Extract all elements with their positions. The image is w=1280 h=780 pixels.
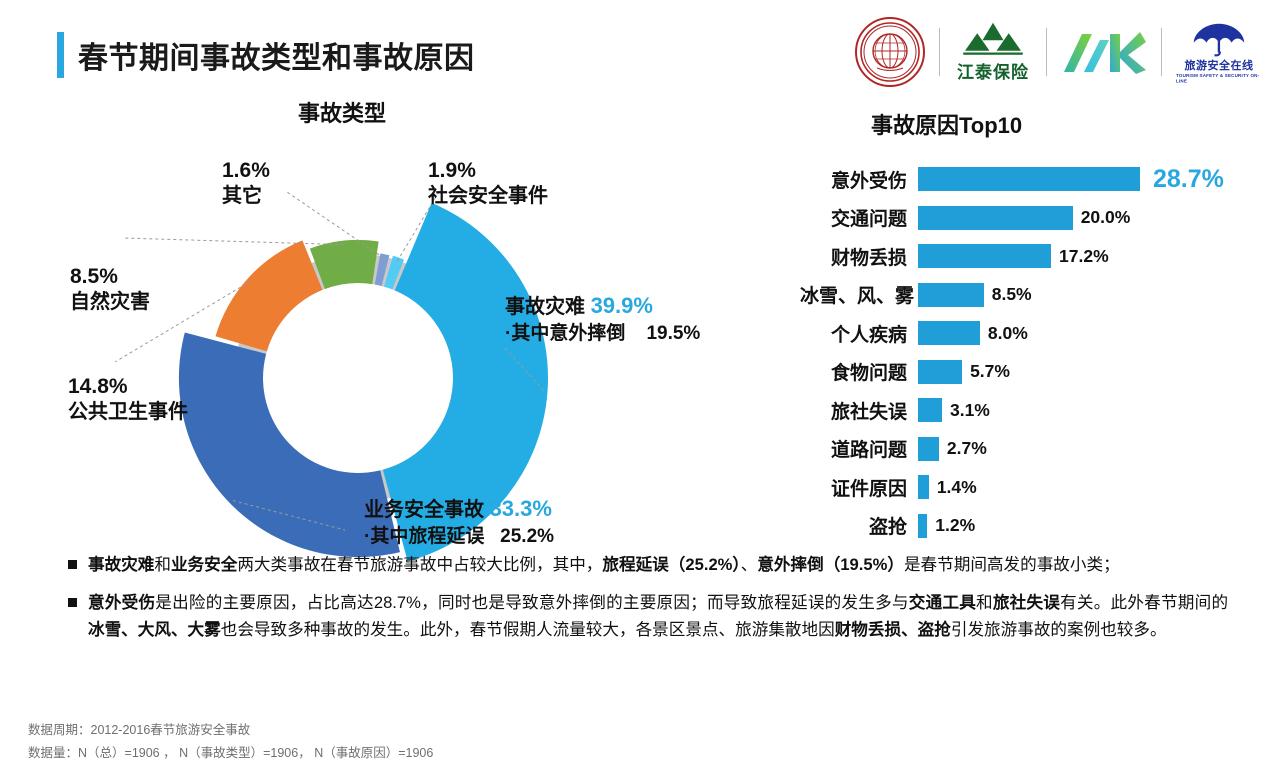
bar-value: 17.2% <box>1059 246 1109 267</box>
bar-row[interactable]: 道路问题2.7% <box>800 430 1268 469</box>
donut-label-business-sub: ·其中旅程延误 25.2% <box>364 525 554 548</box>
jiangtai-label: 江泰保险 <box>957 58 1029 83</box>
bar-fill <box>918 244 1051 268</box>
donut-label-other: 1.6% 其它 <box>222 158 270 208</box>
bar-row[interactable]: 食物问题5.7% <box>800 353 1268 392</box>
bar-row[interactable]: 冰雪、风、雾8.5% <box>800 276 1268 315</box>
huaqiao-university-logo <box>855 16 925 88</box>
bar-fill <box>918 475 929 499</box>
summary-bullets: 事故灾难和业务安全两大类事故在春节旅游事故中占较大比例，其中，旅程延误（25.2… <box>68 552 1228 655</box>
bar-label-证件原因: 证件原因 <box>800 474 918 501</box>
bar-row[interactable]: 旅社失误3.1% <box>800 391 1268 430</box>
bar-track: 17.2% <box>918 237 1268 276</box>
bar-row[interactable]: 证件原因1.4% <box>800 468 1268 507</box>
bar-track: 8.5% <box>918 276 1268 315</box>
donut-leader-line <box>123 238 344 245</box>
bar-track: 1.2% <box>918 507 1268 546</box>
bar-track: 8.0% <box>918 314 1268 353</box>
bar-track: 5.7% <box>918 353 1268 392</box>
bullet-item: 意外受伤是出险的主要原因，占比高达28.7%，同时也是导致意外摔倒的主要原因；而… <box>68 590 1228 644</box>
donut-slice-公共卫生事件[interactable] <box>216 240 323 351</box>
bar-label-意外受伤: 意外受伤 <box>800 166 918 193</box>
aik-logo <box>1061 16 1147 88</box>
bar-label-食物问题: 食物问题 <box>800 358 918 385</box>
bar-label-道路问题: 道路问题 <box>800 435 918 462</box>
umbrella-icon <box>1188 21 1250 57</box>
bullet-text: 意外受伤是出险的主要原因，占比高达28.7%，同时也是导致意外摔倒的主要原因；而… <box>88 590 1228 644</box>
donut-label-natural-disaster: 8.5% 自然灾害 <box>70 264 150 314</box>
bar-value: 8.0% <box>988 323 1028 344</box>
logo-divider <box>939 28 940 76</box>
bar-value: 20.0% <box>1081 207 1131 228</box>
logo-divider <box>1046 28 1047 76</box>
bullet-square-icon <box>68 560 77 569</box>
accident-cause-bar-chart: 意外受伤28.7%交通问题20.0%财物丢损17.2%冰雪、风、雾8.5%个人疾… <box>800 160 1268 545</box>
jiangtai-insurance-logo: 江泰保险 <box>954 16 1032 88</box>
globe-seal-icon <box>859 21 921 83</box>
bar-value: 8.5% <box>992 284 1032 305</box>
slide-root: 春节期间事故类型和事故原因 <box>0 0 1280 780</box>
bar-label-交通问题: 交通问题 <box>800 204 918 231</box>
bar-track: 28.7% <box>918 160 1268 199</box>
donut-label-public-health: 14.8% 公共卫生事件 <box>68 374 188 424</box>
logo-strip: 江泰保险 <box>855 16 1262 88</box>
donut-label-accident-disaster: 事故灾难 39.9% ·其中意外摔倒 19.5% <box>505 293 700 345</box>
bar-track: 1.4% <box>918 468 1268 507</box>
tourism-safety-cn-label: 旅游安全在线 <box>1185 57 1254 73</box>
bar-chart-heading: 事故原因Top10 <box>871 108 1022 140</box>
bullet-square-icon <box>68 598 77 607</box>
bar-value: 2.7% <box>947 438 987 459</box>
bar-label-旅社失误: 旅社失误 <box>800 397 918 424</box>
bar-value: 3.1% <box>950 400 990 421</box>
bar-track: 20.0% <box>918 199 1268 238</box>
bar-track: 2.7% <box>918 430 1268 469</box>
bar-label-个人疾病: 个人疾病 <box>800 320 918 347</box>
page-title: 春节期间事故类型和事故原因 <box>78 33 475 77</box>
logo-divider <box>1161 28 1162 76</box>
bullet-text: 事故灾难和业务安全两大类事故在春节旅游事故中占较大比例，其中，旅程延误（25.2… <box>88 552 1228 579</box>
university-seal-icon <box>855 17 925 87</box>
bar-value: 28.7% <box>1153 165 1224 194</box>
bar-row[interactable]: 意外受伤28.7% <box>800 160 1268 199</box>
bar-value: 5.7% <box>970 361 1010 382</box>
bar-value: 1.4% <box>937 477 977 498</box>
bar-row[interactable]: 财物丢损17.2% <box>800 237 1268 276</box>
bar-fill <box>918 283 984 307</box>
footer-notes: 数据周期：2012-2016春节旅游安全事故 数据量：N（总）=1906 ， N… <box>28 719 433 767</box>
donut-label-business-main: 业务安全事故 33.3% <box>364 496 554 523</box>
donut-chart-heading: 事故类型 <box>298 96 386 128</box>
bar-track: 3.1% <box>918 391 1268 430</box>
title-accent-bar <box>57 32 64 78</box>
footer-sample-size: 数据量：N（总）=1906 ， N（事故类型）=1906， N（事故原因）=19… <box>28 742 433 766</box>
bar-fill <box>918 321 980 345</box>
donut-label-business-safety: 业务安全事故 33.3% ·其中旅程延误 25.2% <box>364 496 554 548</box>
bullet-item: 事故灾难和业务安全两大类事故在春节旅游事故中占较大比例，其中，旅程延误（25.2… <box>68 552 1228 579</box>
donut-label-accident-sub: ·其中意外摔倒 19.5% <box>505 322 700 345</box>
tourism-safety-en-label: TOURISM SAFETY & SECURITY ON-LINE <box>1176 73 1262 84</box>
bar-fill <box>918 437 939 461</box>
donut-label-social-security: 1.9% 社会安全事件 <box>428 158 548 208</box>
bar-row[interactable]: 盗抢1.2% <box>800 507 1268 546</box>
bar-label-财物丢损: 财物丢损 <box>800 243 918 270</box>
donut-label-accident-main: 事故灾难 39.9% <box>505 293 700 320</box>
bar-value: 1.2% <box>935 515 975 536</box>
bar-fill <box>918 514 927 538</box>
bar-row[interactable]: 交通问题20.0% <box>800 199 1268 238</box>
footer-period: 数据周期：2012-2016春节旅游安全事故 <box>28 719 433 743</box>
bar-fill <box>918 167 1140 191</box>
page-title-block: 春节期间事故类型和事故原因 <box>57 32 475 78</box>
bar-fill <box>918 360 962 384</box>
tourism-safety-online-logo: 旅游安全在线 TOURISM SAFETY & SECURITY ON-LINE <box>1176 16 1262 88</box>
bar-label-冰雪、风、雾: 冰雪、风、雾 <box>800 281 918 308</box>
aik-mark-icon <box>1062 28 1146 76</box>
bar-fill <box>918 398 942 422</box>
bar-fill <box>918 206 1073 230</box>
bar-label-盗抢: 盗抢 <box>800 512 918 539</box>
mountain-icon <box>955 21 1031 56</box>
bar-row[interactable]: 个人疾病8.0% <box>800 314 1268 353</box>
